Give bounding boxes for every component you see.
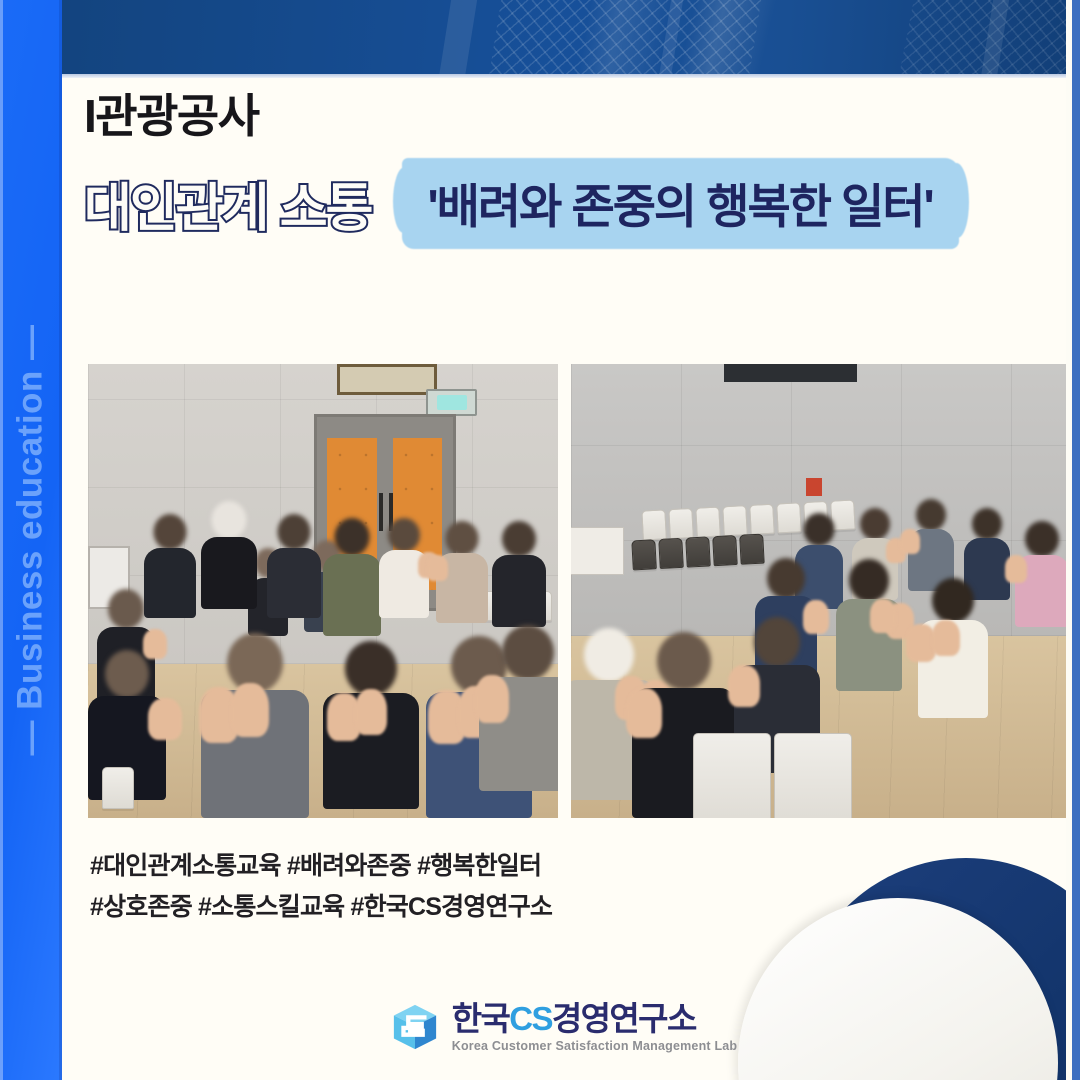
right-border-outer bbox=[1072, 0, 1080, 1080]
ceiling-screen-icon bbox=[724, 364, 857, 382]
cs-cube-icon bbox=[391, 1003, 439, 1051]
organization-title: I관광공사 bbox=[84, 92, 1044, 140]
person-seated bbox=[492, 521, 546, 627]
banner-underline bbox=[62, 74, 1066, 78]
logo-name-suffix: 경영연구소 bbox=[552, 1000, 696, 1037]
person-seated bbox=[144, 514, 196, 618]
content-sheet: I관광공사 대인관계 소통 '배려와 존중의 행복한 일터' bbox=[62, 0, 1066, 1080]
topic-title: 대인관계 소통 bbox=[84, 166, 372, 241]
empty-chair-row-dark bbox=[631, 533, 764, 570]
person-seated-masked bbox=[201, 501, 257, 609]
chair bbox=[669, 508, 695, 539]
title-row: 대인관계 소통 '배려와 존중의 행복한 일터' bbox=[84, 154, 1044, 253]
photo-seminar-room-front bbox=[88, 364, 558, 818]
logo-name-prefix: 한국 bbox=[452, 1000, 510, 1037]
chair bbox=[685, 536, 711, 567]
banner-lattice-pattern bbox=[483, 0, 764, 74]
person-clapping bbox=[323, 641, 419, 809]
person-seated bbox=[379, 518, 429, 618]
headline-block: I관광공사 대인관계 소통 '배려와 존중의 행복한 일터' bbox=[84, 92, 1044, 253]
exit-sign-icon bbox=[426, 389, 477, 416]
chair bbox=[693, 733, 771, 818]
banner-lattice-pattern bbox=[893, 0, 1066, 74]
empty-chair-row bbox=[102, 767, 134, 809]
side-rail-label: — Business education — bbox=[11, 324, 51, 755]
person-clapping bbox=[918, 578, 988, 718]
logo-name-cs: CS bbox=[509, 1000, 552, 1037]
chair bbox=[696, 506, 722, 537]
person-seated bbox=[267, 514, 321, 618]
hashtag-line-2: #상호존중 #소통스킬교육 #한국CS경영연구소 bbox=[90, 887, 552, 928]
chair bbox=[658, 537, 684, 568]
top-banner bbox=[62, 0, 1066, 74]
chair bbox=[750, 503, 776, 534]
logo-text-block: 한국CS경영연구소 Korea Customer Satisfaction Ma… bbox=[452, 1002, 738, 1053]
chair bbox=[723, 505, 749, 536]
photo-strip bbox=[88, 364, 1080, 818]
foreground-chair-row bbox=[693, 733, 852, 818]
logo-title: 한국CS경영연구소 bbox=[452, 1002, 738, 1035]
side-rail-inner: — Business education — bbox=[0, 0, 62, 1080]
hashtag-line-1: #대인관계소통교육 #배려와존중 #행복한일터 bbox=[90, 846, 552, 887]
person-seated bbox=[1015, 521, 1069, 627]
quote-text: '배려와 존중의 행복한 일터' bbox=[428, 168, 933, 237]
person-clapping bbox=[201, 633, 309, 818]
promotional-card: — Business education — I관광공사 대인관계 소통 '배려… bbox=[0, 0, 1080, 1080]
logo-subtitle: Korea Customer Satisfaction Management L… bbox=[452, 1040, 738, 1053]
person-clapping bbox=[479, 625, 558, 791]
framed-calligraphy-icon bbox=[337, 364, 437, 395]
chair bbox=[774, 733, 852, 818]
chair bbox=[642, 509, 668, 540]
fire-extinguisher-box-icon bbox=[806, 478, 822, 496]
photo-seminar-room-side bbox=[571, 364, 1080, 818]
person-clapping bbox=[836, 559, 902, 691]
hashtag-block: #대인관계소통교육 #배려와존중 #행복한일터 #상호존중 #소통스킬교육 #한… bbox=[90, 846, 552, 927]
person-seated bbox=[323, 518, 381, 636]
banner-beam bbox=[433, 0, 480, 74]
brand-logo: 한국CS경영연구소 Korea Customer Satisfaction Ma… bbox=[62, 1002, 1066, 1053]
chair bbox=[631, 539, 657, 570]
podium-table bbox=[571, 527, 624, 574]
chair bbox=[102, 767, 134, 809]
side-rail: — Business education — bbox=[0, 0, 62, 1080]
chair bbox=[712, 534, 738, 565]
quote-highlight: '배려와 존중의 행복한 일터' bbox=[402, 154, 959, 253]
person-seated bbox=[436, 521, 488, 623]
